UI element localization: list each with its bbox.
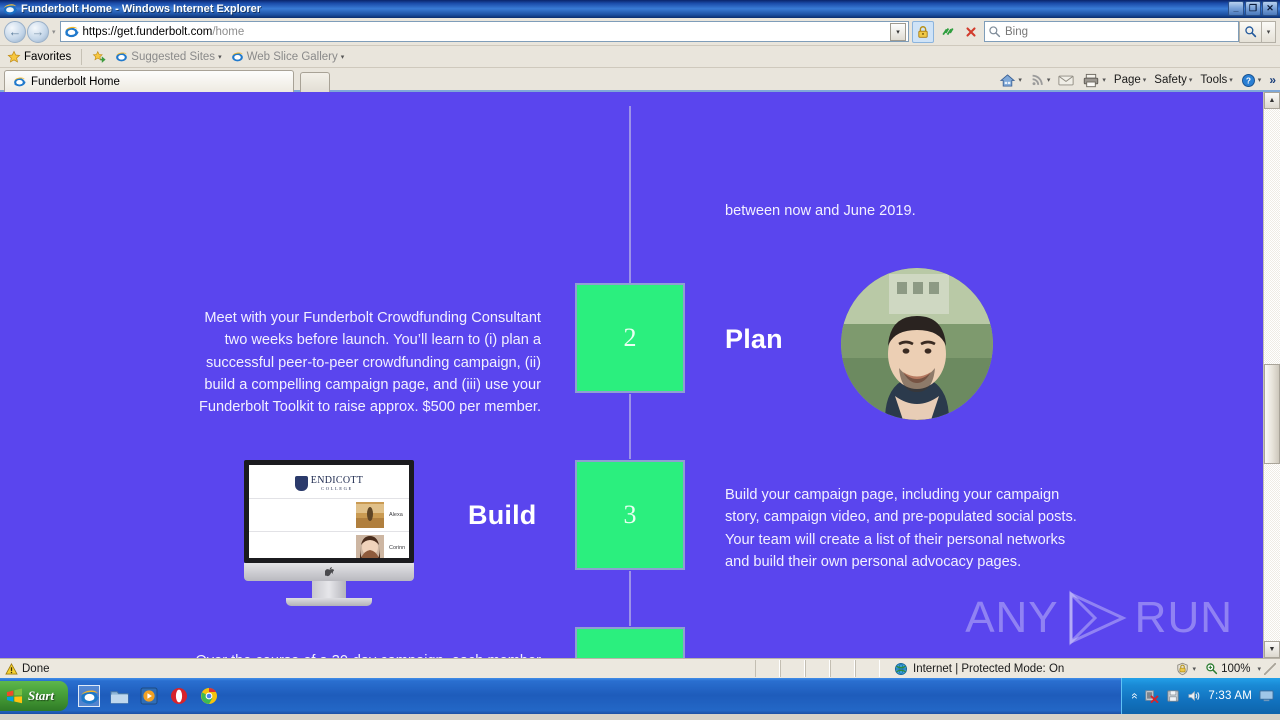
system-tray: « 7:33 AM [1121,678,1280,714]
security-padlock-icon[interactable] [912,21,934,43]
chevron-down-icon[interactable]: ▾ [1257,665,1261,673]
window-title: Funderbolt Home - Windows Internet Explo… [21,3,261,15]
close-button[interactable]: ✕ [1262,1,1278,16]
campaign-list-item: Alexa [249,498,409,531]
safety-menu-button[interactable]: Safety ▾ [1151,74,1195,86]
apple-logo-icon [325,567,334,578]
monitor-stand-base [286,598,372,606]
browser-viewport: between now and June 2019. 1 Meet with y… [0,92,1280,658]
participant-name: Corinn [389,545,409,551]
tools-menu-label: Tools [1200,74,1227,86]
minimize-button[interactable]: _ [1228,1,1244,16]
brand-name: ENDICOTT [311,476,363,486]
status-cell [830,660,855,677]
suggested-sites-label: Suggested Sites [131,51,215,63]
step-3-title: Build [468,500,537,531]
printer-icon [1082,73,1100,88]
tools-menu-button[interactable]: Tools ▾ [1197,74,1235,86]
status-cell [805,660,830,677]
internet-globe-icon [894,662,908,676]
start-label: Start [28,688,54,704]
add-favorite-icon [92,50,106,64]
watermark-text-right: RUN [1135,593,1233,643]
chevron-down-icon[interactable]: ▾ [341,53,345,61]
endicott-college-logo: ENDICOTT COLLEGE [249,465,409,491]
resize-grip[interactable] [1264,663,1276,675]
chrome-taskbar-icon[interactable] [198,685,220,707]
monitor-screen: ENDICOTT COLLEGE [244,460,414,563]
home-icon [999,73,1016,88]
chevron-down-icon[interactable]: ▾ [218,53,222,61]
navigation-toolbar: ← → ▾ https://get.funderbolt.com/home ▾ [0,18,1280,46]
start-button[interactable]: Start [0,681,68,711]
stop-x-icon[interactable] [960,21,982,43]
command-bar: ▾ ▾ [996,69,1276,91]
timeline-connector [629,571,631,626]
campaign-list-item: Corinn [249,531,409,563]
tab-label: Funderbolt Home [31,76,120,88]
command-bar-overflow-button[interactable]: » [1269,73,1276,87]
windows-explorer-taskbar-icon[interactable] [108,685,130,707]
chevron-down-icon[interactable]: ▾ [1018,76,1022,84]
safety-menu-label: Safety [1154,74,1187,86]
security-zone-text: Internet | Protected Mode: On [913,663,1064,675]
maximize-button[interactable]: ❐ [1245,1,1261,16]
page-favicon-icon [64,24,79,39]
status-bar-right: ▾ 100% ▾ [1175,662,1280,676]
play-triangle-icon [1065,590,1129,646]
recent-pages-caret-icon[interactable]: ▾ [52,28,56,36]
step-4-number-box: 4 [575,627,685,658]
feeds-button[interactable]: ▾ [1027,73,1054,87]
tab-funderbolt-home[interactable]: Funderbolt Home [4,70,294,92]
search-go-button[interactable] [1239,21,1261,43]
brand-sub: COLLEGE [311,486,363,491]
page-menu-label: Page [1114,74,1141,86]
privacy-report-icon[interactable] [1175,662,1190,676]
status-cell [780,660,805,677]
scroll-down-button[interactable]: ▼ [1264,641,1280,658]
address-bar-dropdown[interactable]: ▾ [890,23,906,41]
warning-triangle-icon [5,663,18,675]
show-desktop-icon[interactable] [1259,689,1274,703]
search-dropdown-button[interactable]: ▾ [1261,21,1276,43]
address-bar-url: https://get.funderbolt.com/home [83,26,890,38]
scroll-up-button[interactable]: ▲ [1264,92,1280,109]
step-2-number-box: 2 [575,283,685,393]
participant-name: Alexa [389,512,409,518]
mail-icon [1058,74,1074,87]
search-placeholder: Bing [1005,26,1028,38]
status-message-area: Done [0,663,755,675]
step-3-number: 3 [624,500,637,530]
search-magnifier-icon [988,25,1001,38]
ie-logo-icon [115,50,128,63]
removable-media-icon[interactable] [1166,689,1180,703]
favorites-button[interactable]: Favorites [4,49,74,65]
consultant-headshot-photo [841,268,993,420]
network-disconnected-icon[interactable] [1144,689,1159,703]
home-button[interactable]: ▾ [996,73,1025,88]
monitor-stand-neck [312,581,346,598]
favorites-label: Favorites [24,51,71,63]
quick-launch-bar [74,685,220,707]
help-question-icon: ? [1241,73,1256,88]
help-button[interactable]: ? ▾ [1238,73,1265,88]
chevron-down-icon[interactable]: ▾ [1189,76,1193,84]
web-slice-gallery-item[interactable]: Web Slice Gallery ▾ [228,49,348,64]
security-zone-indicator[interactable]: Internet | Protected Mode: On [894,662,1064,676]
anyrun-watermark: ANY RUN [965,590,1233,646]
chevron-down-icon[interactable]: ▾ [1102,76,1106,84]
status-bar: Done Internet | Protected Mode: On ▾ [0,658,1280,678]
mail-button[interactable] [1055,74,1077,87]
chevron-down-icon[interactable]: ▾ [1258,76,1262,84]
chevron-down-icon[interactable]: ▾ [1047,76,1051,84]
compatibility-view-icon[interactable] [936,21,958,43]
step-1-body-text-clipped: between now and June 2019. [725,200,1145,222]
tab-strip: Funderbolt Home ▾ ▾ [0,68,1280,92]
new-tab-button[interactable] [300,72,330,92]
chevron-down-icon[interactable]: ▾ [1229,76,1233,84]
status-cell [755,660,780,677]
imac-campaign-page-screenshot: ENDICOTT COLLEGE [244,460,414,606]
windows-flag-icon [6,688,23,704]
page-menu-button[interactable]: Page ▾ [1111,74,1149,86]
chevron-down-icon[interactable]: ▾ [1193,665,1197,673]
step-4-body-text: Over the course of a 30-day campaign, ea… [185,650,541,658]
step-2-title: Plan [725,324,783,355]
star-icon [7,50,21,64]
favorites-bar: Favorites Suggested Sites ▾ [0,46,1280,68]
address-bar[interactable]: https://get.funderbolt.com/home ▾ [60,21,909,42]
web-page-content: between now and June 2019. 1 Meet with y… [0,92,1263,658]
print-button[interactable]: ▾ [1079,73,1109,88]
windows-taskbar: Start [0,678,1280,714]
timeline-connector [629,394,631,459]
window-controls: _ ❐ ✕ [1228,1,1278,16]
search-input[interactable]: Bing [984,21,1239,42]
web-slice-gallery-label: Web Slice Gallery [247,51,338,63]
forward-button[interactable]: → [27,21,49,43]
zoom-magnifier-icon[interactable] [1205,662,1218,675]
svg-text:?: ? [1246,75,1251,85]
ie-logo-icon [3,2,17,16]
step-2-body-text: Meet with your Funderbolt Crowdfunding C… [185,307,541,418]
window-title-bar: Funderbolt Home - Windows Internet Explo… [0,0,1280,18]
zoom-level-label[interactable]: 100% [1221,663,1250,675]
status-cell [855,660,880,677]
shield-icon [295,476,308,491]
rss-feed-icon [1030,73,1045,87]
volume-icon[interactable] [1187,689,1201,703]
ie-logo-icon [13,75,26,88]
status-text: Done [22,663,50,675]
step-3-body-text: Build your campaign page, including your… [725,484,1085,573]
participant-thumbnail [356,535,384,561]
add-to-favorites-bar-button[interactable] [89,49,109,65]
monitor-chin [244,563,414,581]
ie-logo-icon [231,50,244,63]
toolbar-separator [81,49,82,65]
participant-thumbnail [356,502,384,528]
scrollbar-thumb[interactable] [1264,364,1280,464]
opera-taskbar-icon[interactable] [168,685,190,707]
back-button[interactable]: ← [4,21,26,43]
media-player-taskbar-icon[interactable] [138,685,160,707]
internet-explorer-taskbar-icon[interactable] [78,685,100,707]
suggested-sites-item[interactable]: Suggested Sites ▾ [112,49,224,64]
step-2-number: 2 [624,323,637,353]
chevron-down-icon[interactable]: ▾ [1143,76,1147,84]
timeline-connector [629,106,631,283]
page-vertical-scrollbar[interactable]: ▲ ▼ [1263,92,1280,658]
taskbar-clock[interactable]: 7:33 AM [1208,690,1252,702]
step-3-number-box: 3 [575,460,685,570]
watermark-text-left: ANY [965,593,1058,643]
tray-expand-caret-icon[interactable]: « [1128,693,1140,699]
